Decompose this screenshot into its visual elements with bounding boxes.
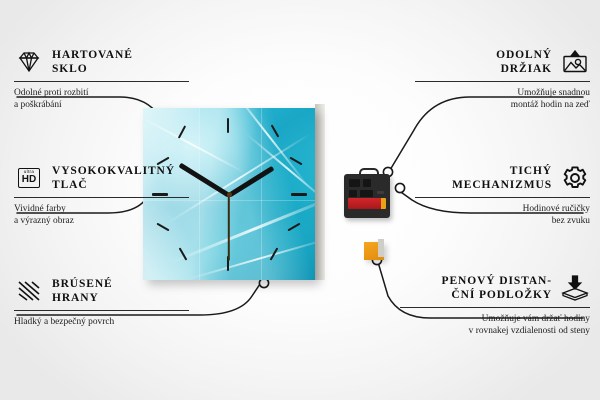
feature-title-line1: TICHÝ [452,164,552,178]
feature-desc-line2: bez zvuku [415,215,590,227]
feature-title-line2: SKLO [52,62,133,76]
feature-title-line2: ČNÍ PODLOŽKY [442,288,552,302]
mechanism-battery [348,198,382,209]
feature-title-line2: MECHANIZMUS [452,178,552,192]
feature-foam-spacers: PENOVÝ DISTAN- ČNÍ PODLOŽKY Umožňuje vám… [400,274,590,338]
battery-terminal [381,198,386,209]
feature-desc-line2: v rovnakej vzdialenosti od steny [400,325,590,337]
feature-desc-line1: Odolné proti rozbití [14,87,189,99]
feature-title-line1: VYSOKOKVALITNÝ [52,164,175,178]
mechanism-body [344,174,390,218]
feature-polished-edges: BRÚSENÉ HRANY Hladký a bezpečný povrch [14,277,189,328]
feature-durable-holder: ODOLNÝ DRŽIAK Umožňuje snadnou montáž ho… [415,48,590,112]
polished-edges-icon [14,277,44,305]
diamond-icon [14,48,44,76]
divider [400,307,590,308]
divider [14,197,189,198]
feature-high-quality-print: ultra HD VYSOKOKVALITNÝ TLAČ Vividné far… [14,164,189,228]
feature-title-line2: HRANY [52,291,113,305]
feature-desc-line1: Hladký a bezpečný povrch [14,316,189,328]
clock-center-pin [227,192,232,197]
divider [415,81,590,82]
gear-icon [560,164,590,192]
feature-desc-line1: Umožňuje vám držať hodiny [400,313,590,325]
divider [14,310,189,311]
connector-dot-5 [395,183,404,192]
feature-desc-line2: a výrazný obraz [14,215,189,227]
feature-desc-line2: a poškrábání [14,99,189,111]
feature-tempered-glass: HARTOVANÉ SKLO Odolné proti rozbití a po… [14,48,189,112]
infographic-canvas: HARTOVANÉ SKLO Odolné proti rozbití a po… [0,0,600,400]
feature-silent-mechanism: TICHÝ MECHANIZMUS Hodinové ručičky bez z… [415,164,590,228]
divider [415,197,590,198]
feature-desc-line2: montáž hodin na zeď [415,99,590,111]
feature-desc-line1: Umožňuje snadnou [415,87,590,99]
foam-spacer-pad [364,242,384,260]
feature-desc-line1: Hodinové ručičky [415,203,590,215]
feature-title-line1: BRÚSENÉ [52,277,113,291]
feature-title-line1: PENOVÝ DISTAN- [442,274,552,288]
divider [14,81,189,82]
foam-spacer-icon [560,274,590,302]
feature-title-line1: HARTOVANÉ [52,48,133,62]
wall-hanger-icon [560,48,590,76]
feature-desc-line1: Vividné farby [14,203,189,215]
hd-badge-large: HD [22,175,36,185]
feature-title-line1: ODOLNÝ [496,48,552,62]
clock-mechanism [344,168,390,220]
glass-side-edge [315,104,325,280]
feature-title-line2: TLAČ [52,178,175,192]
feature-title-line2: DRŽIAK [496,62,552,76]
clock-second-hand [228,194,230,260]
ultra-hd-icon: ultra HD [14,164,44,192]
